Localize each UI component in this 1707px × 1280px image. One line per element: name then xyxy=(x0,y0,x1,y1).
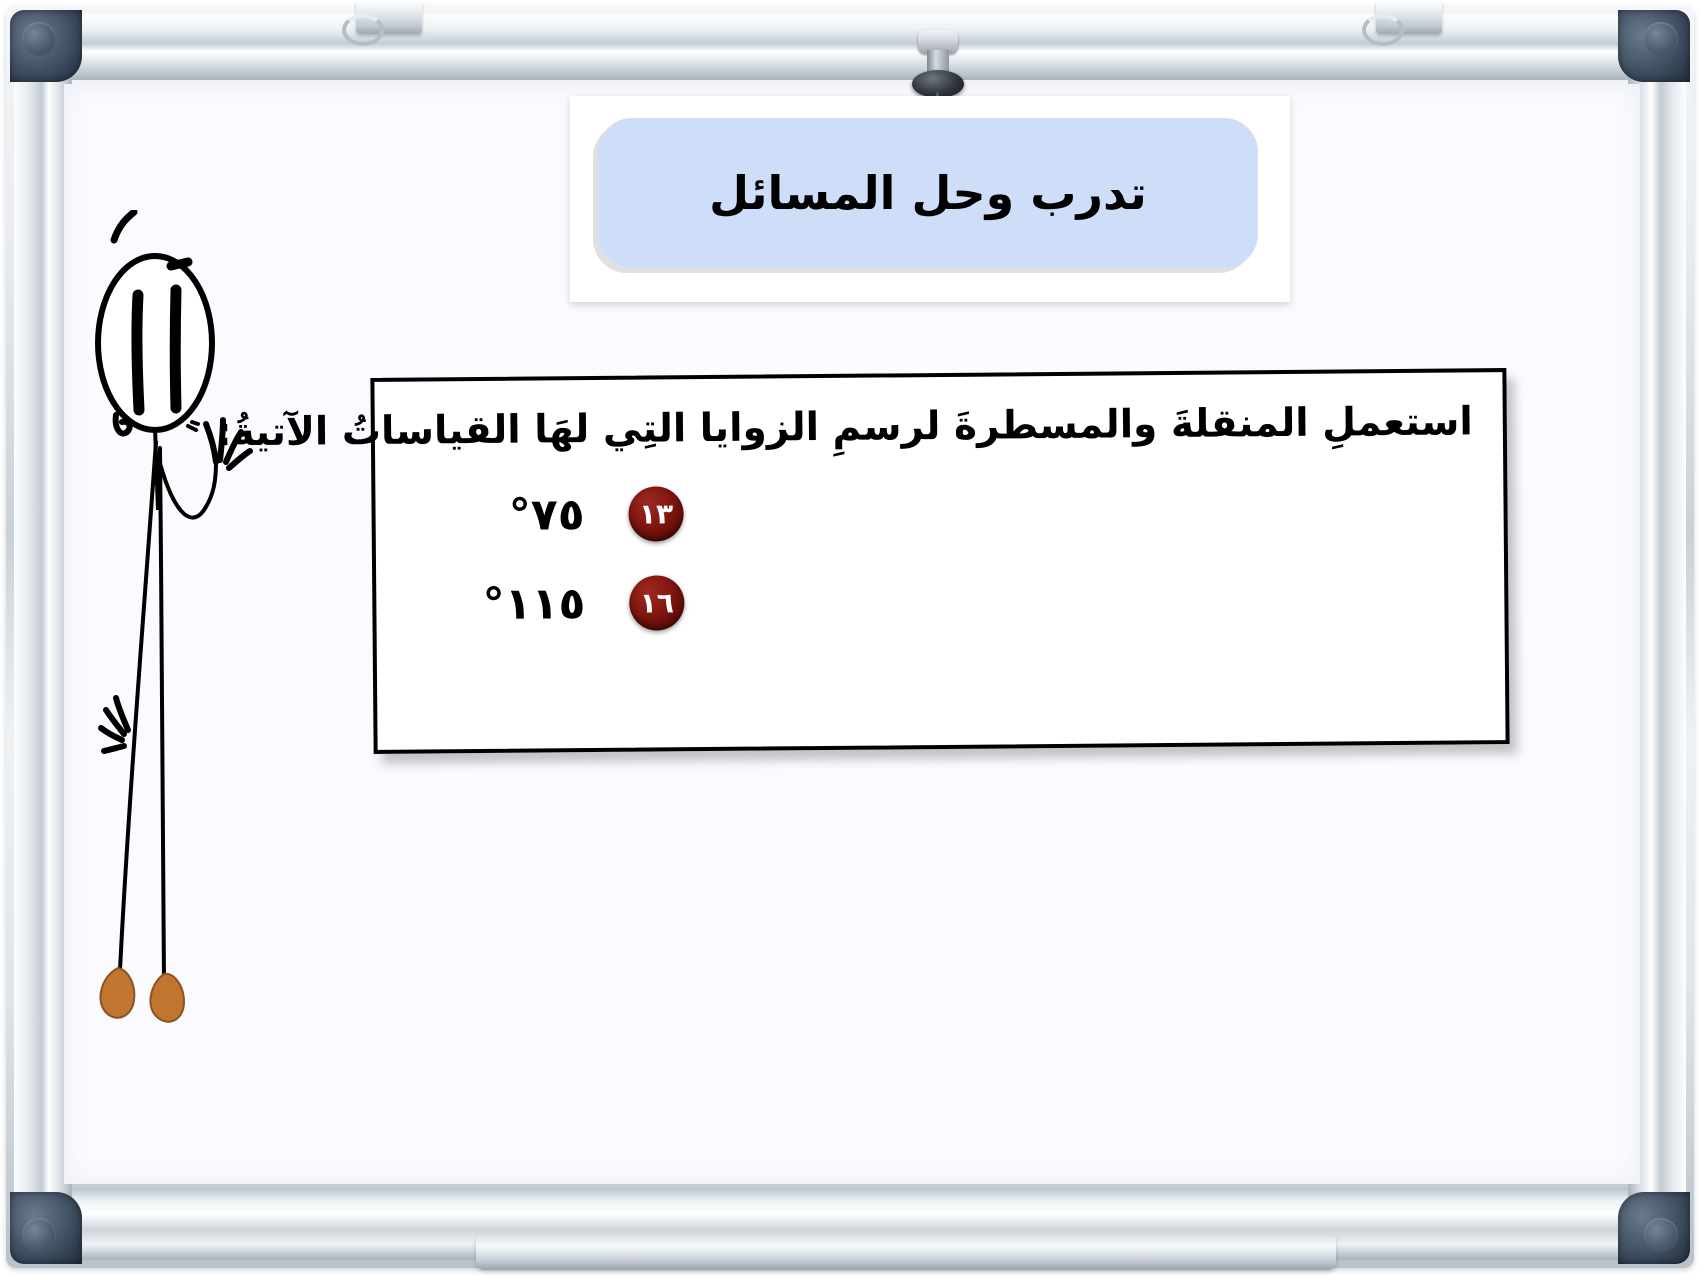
hand-finger-1 xyxy=(206,424,216,462)
problem-item-badge: ١٣ xyxy=(628,486,683,541)
problem-item-badge: ١٦ xyxy=(629,575,684,630)
left-shoe xyxy=(100,968,134,1018)
problem-item: ١٣ ٧٥° xyxy=(405,479,1473,543)
frame-corner-top-left xyxy=(10,10,82,82)
frame-corner-bottom-right xyxy=(1618,1192,1690,1264)
right-arm xyxy=(158,456,216,518)
head-outline xyxy=(98,256,212,430)
right-shoe xyxy=(150,974,184,1022)
problem-prompt: استعملِ المنقلةَ والمسطرةَ لرسمِ الزوايا… xyxy=(405,398,1473,456)
left-leg xyxy=(120,442,156,970)
title-card: تدرب وحل المسائل xyxy=(570,96,1290,302)
frame-corner-bottom-left xyxy=(10,1192,82,1264)
hair-tuft-icon xyxy=(114,212,134,240)
problem-box: استعملِ المنقلةَ والمسطرةَ لرسمِ الزوايا… xyxy=(370,368,1509,754)
mounting-clip-left xyxy=(356,0,422,34)
title-pill: تدرب وحل المسائل xyxy=(598,118,1258,268)
head-mark-right xyxy=(175,290,176,408)
head-mark-left xyxy=(137,295,139,410)
problem-item: ١٦ ١١٥° xyxy=(406,568,1474,632)
page-title: تدرب وحل المسائل xyxy=(709,166,1147,220)
problem-item-value: ١١٥° xyxy=(483,578,586,630)
right-leg xyxy=(160,448,164,982)
problem-item-list: ١٣ ٧٥° ١٦ ١١٥° xyxy=(405,479,1474,632)
marker-tray xyxy=(476,1236,1336,1270)
left-hand-finger-4 xyxy=(104,746,124,751)
frame-corner-top-right xyxy=(1618,10,1690,82)
problem-item-value: ٧٥° xyxy=(509,489,585,541)
slide-canvas: تدرب وحل المسائل استعملِ المنقلةَ والمسط… xyxy=(0,0,1707,1280)
head-mark-hamza xyxy=(171,262,188,266)
mounting-clip-right xyxy=(1376,0,1442,34)
stick-figure-illustration xyxy=(80,210,280,1040)
head-mark-dots xyxy=(188,422,198,430)
